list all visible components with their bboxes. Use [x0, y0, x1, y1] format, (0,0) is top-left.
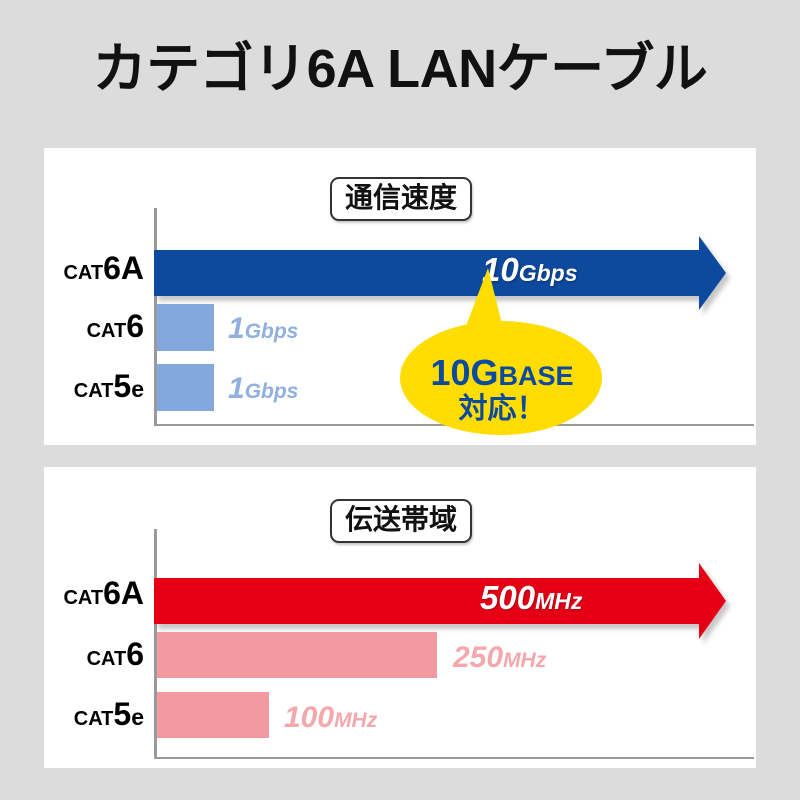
value-number: 100: [284, 701, 334, 734]
chart-panel-speed: CAT6A CAT6 CAT5e 10Gbps 1Gbps 1Gbps 通信速度: [44, 148, 756, 445]
cat-prefix: CAT: [63, 587, 103, 609]
cat-main: 5: [113, 368, 131, 404]
category-label-cat6a: CAT6A: [44, 577, 144, 609]
balloon-line1-small: BASE: [499, 361, 574, 391]
cat-prefix: CAT: [74, 380, 114, 402]
cat-suffix: A: [121, 575, 144, 611]
value-unit: MHz: [535, 588, 582, 614]
cat-suffix: A: [121, 250, 144, 286]
cat-prefix: CAT: [87, 320, 127, 342]
cat-main: 6: [126, 636, 144, 672]
callout-balloon-10gbase: 10GBASE 対応！: [396, 266, 608, 436]
chart-title-chip-speed: 通信速度: [330, 177, 472, 221]
chart-axis-horizontal: [154, 757, 754, 759]
category-label-cat6: CAT6: [44, 638, 144, 670]
cat-prefix: CAT: [87, 648, 127, 670]
value-label-cat5e-speed: 1Gbps: [228, 374, 298, 404]
balloon-line1-big: 10G: [430, 352, 498, 393]
value-number: 1: [228, 372, 245, 405]
category-label-cat5e: CAT5e: [44, 698, 144, 730]
balloon-text: 10GBASE 対応！: [396, 354, 608, 424]
category-label-cat6: CAT6: [44, 310, 144, 342]
cat-prefix: CAT: [63, 262, 103, 284]
value-label-cat5e-bandwidth: 100MHz: [284, 703, 377, 733]
value-number: 500: [480, 579, 535, 616]
category-label-cat6a: CAT6A: [44, 252, 144, 284]
chart-panel-bandwidth: CAT6A CAT6 CAT5e 500MHz 250MHz 100MHz 伝送…: [44, 467, 756, 768]
cat-prefix: CAT: [74, 708, 114, 730]
category-label-cat5e: CAT5e: [44, 370, 144, 402]
value-unit: MHz: [334, 709, 377, 732]
value-number: 1: [228, 312, 245, 345]
cat-suffix: e: [131, 376, 144, 402]
chart-title-chip-bandwidth: 伝送帯域: [330, 499, 472, 543]
bar-arrow-cat6a-bandwidth: [154, 563, 726, 639]
bar-cat6-bandwidth: [157, 632, 437, 678]
bar-cat5e-speed: [157, 364, 214, 411]
balloon-line2: 対応！: [396, 394, 608, 424]
cat-suffix: e: [131, 704, 144, 730]
cat-main: 6: [103, 575, 121, 611]
value-number: 250: [453, 641, 503, 674]
bar-cat5e-bandwidth: [157, 692, 269, 738]
value-unit: MHz: [503, 649, 546, 672]
cat-main: 5: [113, 696, 131, 732]
bar-cat6-speed: [157, 304, 214, 351]
value-label-cat6-speed: 1Gbps: [228, 314, 298, 344]
value-label-cat6a-bandwidth: 500MHz: [480, 581, 582, 614]
cat-main: 6: [103, 250, 121, 286]
value-unit: Gbps: [245, 320, 299, 343]
page-title: カテゴリ6A LANケーブル: [0, 42, 800, 96]
cat-main: 6: [126, 308, 144, 344]
value-label-cat6-bandwidth: 250MHz: [453, 643, 546, 673]
value-unit: Gbps: [245, 380, 299, 403]
